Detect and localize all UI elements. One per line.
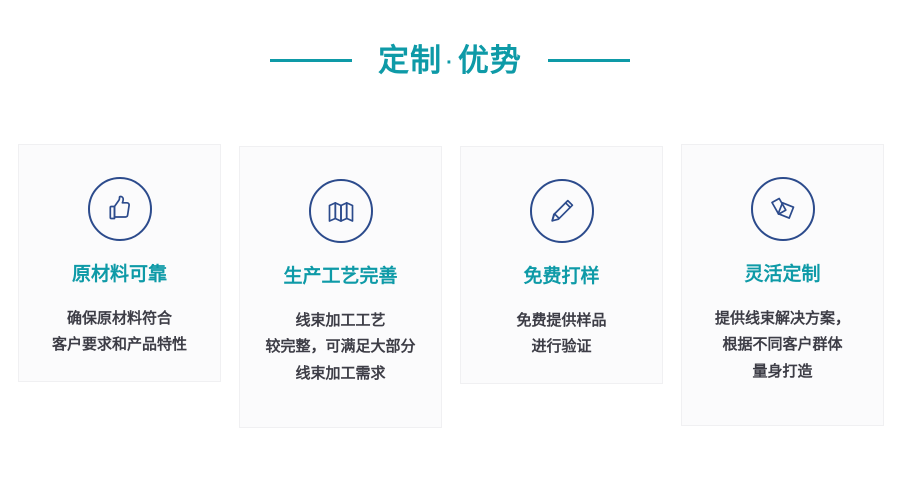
advantage-card-list: 原材料可靠 确保原材料符合 客户要求和产品特性 生产工艺完善 线束加工工艺 较完… <box>18 144 884 428</box>
advantage-card-3-title: 免费打样 <box>523 267 599 286</box>
advantage-card-4[interactable]: 灵活定制 提供线束解决方案， 根据不同客户群体 量身打造 <box>681 144 884 426</box>
advantage-card-1-desc-line-1: 确保原材料符合 <box>52 306 187 332</box>
page-title-separator: · <box>442 52 458 74</box>
heading-rule-right <box>548 59 630 62</box>
advantage-card-2-desc-line-2: 较完整，可满足大部分 <box>265 334 415 360</box>
advantage-card-3[interactable]: 免费打样 免费提供样品 进行验证 <box>460 146 663 384</box>
pencil-circle-icon <box>530 179 594 243</box>
section-heading: 定制·优势 <box>0 34 900 86</box>
advantage-card-4-title: 灵活定制 <box>744 265 820 284</box>
page-title-main: 定制 <box>378 43 442 78</box>
advantage-card-2-desc-line-3: 线束加工需求 <box>265 361 415 387</box>
layers-cards-icon <box>751 177 815 241</box>
advantage-card-3-desc-line-2: 进行验证 <box>516 334 606 360</box>
advantage-card-2-title: 生产工艺完善 <box>283 267 397 286</box>
advantage-card-3-desc-line-1: 免费提供样品 <box>516 308 606 334</box>
advantage-card-1-title: 原材料可靠 <box>72 265 167 284</box>
advantage-card-4-desc-line-2: 根据不同客户群体 <box>715 332 850 358</box>
advantage-card-3-desc: 免费提供样品 进行验证 <box>516 308 606 361</box>
advantage-card-2-desc-line-1: 线束加工工艺 <box>265 308 415 334</box>
page-title: 定制·优势 <box>378 45 522 76</box>
heading-rule-left <box>270 59 352 62</box>
advantage-card-4-desc-line-3: 量身打造 <box>715 359 850 385</box>
advantage-card-1[interactable]: 原材料可靠 确保原材料符合 客户要求和产品特性 <box>18 144 221 382</box>
thumbs-up-icon <box>88 177 152 241</box>
page-title-sub: 优势 <box>458 43 522 78</box>
advantage-card-4-desc-line-1: 提供线束解决方案， <box>715 306 850 332</box>
advantage-card-2-desc: 线束加工工艺 较完整，可满足大部分 线束加工需求 <box>265 308 415 387</box>
map-fold-icon <box>309 179 373 243</box>
advantage-card-4-desc: 提供线束解决方案， 根据不同客户群体 量身打造 <box>715 306 850 385</box>
advantage-card-2[interactable]: 生产工艺完善 线束加工工艺 较完整，可满足大部分 线束加工需求 <box>239 146 442 428</box>
advantage-card-1-desc: 确保原材料符合 客户要求和产品特性 <box>52 306 187 359</box>
advantage-card-1-desc-line-2: 客户要求和产品特性 <box>52 332 187 358</box>
